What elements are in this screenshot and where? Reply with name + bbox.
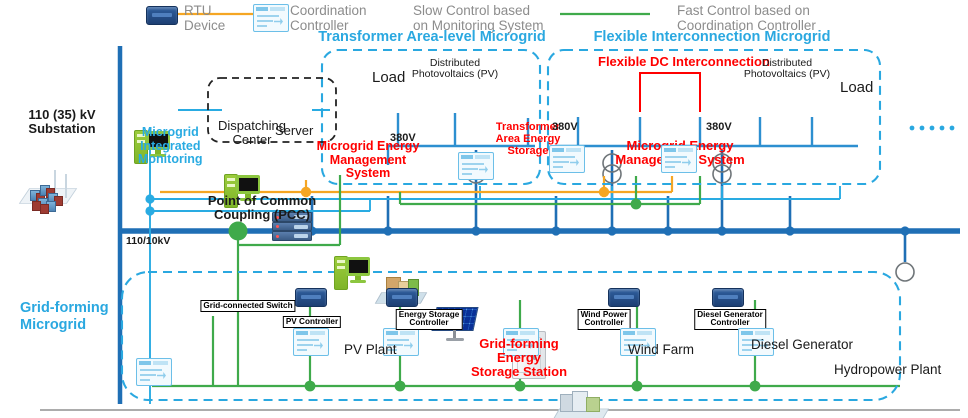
grid-connected-switch-label: Grid-connected Switch bbox=[200, 300, 295, 312]
microgrid-integrated-monitoring-label: Microgrid Integrated Monitoring bbox=[138, 126, 203, 167]
pcc-l2: Coupling (PCC) bbox=[208, 208, 316, 222]
microgrid2-load-label: Load bbox=[840, 80, 873, 96]
monitoring-l2: Integrated bbox=[138, 140, 203, 154]
legend-rtu-l1: RTU bbox=[184, 3, 225, 18]
rtu-icon-switch bbox=[295, 288, 327, 307]
microgrid1-coordination-controller bbox=[458, 152, 494, 180]
microgrid2-voltage-right: 380V bbox=[706, 122, 732, 134]
m2-pv-l2: Photovoltaics (PV) bbox=[744, 69, 830, 80]
flexible-dc-bracket bbox=[640, 73, 700, 112]
ess-l1: Grid-forming bbox=[471, 337, 567, 351]
substation-l2: Substation bbox=[28, 122, 95, 136]
microgrid2-voltage-left: 380V bbox=[552, 122, 578, 134]
substation-label: 110 (35) kV Substation bbox=[28, 108, 95, 136]
cc-grid-forming-main bbox=[136, 358, 172, 386]
diesel-generator-controller-label: Diesel Generator Controller bbox=[694, 309, 766, 330]
pv-plant-label: PV Plant bbox=[344, 343, 397, 358]
microgrid2-coordination-controller-right bbox=[661, 145, 697, 173]
coordination-controller-icon bbox=[253, 4, 289, 32]
bus-voltage-label: 110/10kV bbox=[126, 236, 170, 247]
pv-controller-label: PV Controller bbox=[283, 316, 341, 328]
diesel-generator-label: Diesel Generator bbox=[751, 338, 853, 353]
pcc-label: Point of Common Coupling (PCC) bbox=[208, 194, 316, 222]
energy-storage-controller-label: Energy Storage Controller bbox=[396, 309, 463, 330]
continuation-ellipsis bbox=[910, 126, 955, 131]
m1-mems-l3: System bbox=[317, 167, 420, 181]
ess-ctrl-l2: Controller bbox=[399, 319, 460, 327]
grid-forming-energy-storage-label: Grid-forming Energy Storage Station bbox=[471, 337, 567, 379]
rtu-icon-wind bbox=[608, 288, 640, 307]
server-label: Server bbox=[275, 124, 313, 138]
transformer-symbols bbox=[467, 154, 914, 281]
rtu-icon-diesel bbox=[712, 288, 744, 307]
section-header-transformer-area: Transformer Area-level Microgrid bbox=[318, 30, 546, 46]
section-header-flexible-interconnection: Flexible Interconnection Microgrid bbox=[594, 30, 831, 46]
rtu-icon bbox=[146, 6, 178, 25]
microgrid1-voltage-label: 380V bbox=[390, 133, 416, 145]
legend-cc-l1: Coordination bbox=[290, 3, 367, 18]
wind-ctrl-l2: Controller bbox=[581, 319, 628, 327]
section-header-grid-forming: Grid-forming Microgrid bbox=[20, 300, 109, 333]
factory-icon-2 bbox=[556, 389, 604, 418]
m1-mems-l2: Management bbox=[317, 154, 420, 168]
monitoring-l1: Microgrid bbox=[138, 126, 203, 140]
substation-l1: 110 (35) kV bbox=[28, 108, 95, 122]
legend-fast-l1: Fast Control based on bbox=[677, 3, 816, 18]
legend-rtu-l2: Device bbox=[184, 18, 225, 33]
microgrid1-mems-icon bbox=[334, 252, 370, 292]
substation-icon bbox=[24, 168, 70, 210]
hydropower-plant-label: Hydropower Plant bbox=[834, 363, 941, 378]
microgrid1-load-label: Load bbox=[372, 70, 405, 86]
wind-power-controller-label: Wind Power Controller bbox=[578, 309, 631, 330]
cc-grid-connected-switch bbox=[293, 328, 329, 356]
grid-forming-l2: Microgrid bbox=[20, 317, 109, 334]
diesel-ctrl-l2: Controller bbox=[697, 319, 763, 327]
m1-sto-l2: Area Energy bbox=[496, 134, 561, 146]
microgrid2-pv-label: Distributed Photovoltaics (PV) bbox=[744, 58, 830, 81]
pcc-l1: Point of Common bbox=[208, 194, 316, 208]
microgrid1-pv-label: Distributed Photovoltaics (PV) bbox=[412, 58, 498, 81]
grid-forming-l1: Grid-forming bbox=[20, 300, 109, 317]
microgrid1-mems-label: Microgrid Energy Management System bbox=[317, 140, 420, 181]
microgrid2-coordination-controller-left bbox=[549, 145, 585, 173]
ess-l3: Storage Station bbox=[471, 365, 567, 379]
m1-pv-l2: Photovoltaics (PV) bbox=[412, 69, 498, 80]
wind-farm-label: Wind Farm bbox=[628, 343, 694, 358]
legend-slow-l1: Slow Control based bbox=[413, 3, 544, 18]
ess-l2: Energy bbox=[471, 351, 567, 365]
legend-rtu-label: RTU Device bbox=[184, 3, 225, 33]
diagram-canvas: RTU Device Coordination Controller Slow … bbox=[0, 0, 968, 418]
monitoring-l3: Monitoring bbox=[138, 153, 203, 167]
rtu-icon-ess bbox=[386, 288, 418, 307]
